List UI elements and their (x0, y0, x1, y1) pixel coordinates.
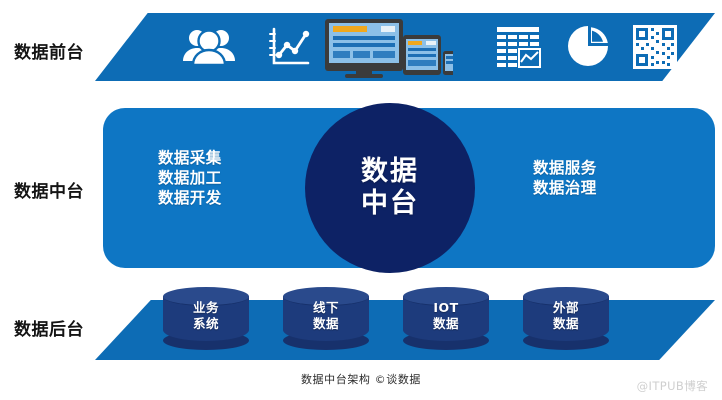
cylinder-label: IOT 数据 (403, 300, 489, 332)
middle-layer-right-capabilities: 数据服务 数据治理 (533, 158, 597, 198)
data-source-cylinder-offline-data: 线下 数据 (283, 287, 369, 349)
watermark-label: @ITPUB博客 (637, 378, 708, 394)
row-label-middle-layer: 数据中台 (14, 177, 84, 202)
row-label-back-layer: 数据后台 (14, 315, 84, 340)
cylinder-label: 业务 系统 (163, 300, 249, 332)
data-source-cylinder-external-data: 外部 数据 (523, 287, 609, 349)
diagram-caption: 数据中台架构 ©谈数据 (0, 371, 722, 387)
core-circle-label: 数据 中台 (361, 156, 419, 220)
row-label-front-layer: 数据前台 (14, 38, 84, 63)
data-middle-platform-architecture-diagram: 数据前台 数据中台 数据后台 (0, 0, 722, 400)
front-layer-band (95, 13, 715, 81)
data-source-cylinder-business-system: 业务 系统 (163, 287, 249, 349)
middle-layer-left-capabilities: 数据采集 数据加工 数据开发 (158, 148, 222, 208)
cylinder-label: 线下 数据 (283, 300, 369, 332)
data-middle-platform-core-circle: 数据 中台 (305, 103, 475, 273)
cylinder-label: 外部 数据 (523, 300, 609, 332)
data-source-cylinder-iot-data: IOT 数据 (403, 287, 489, 349)
